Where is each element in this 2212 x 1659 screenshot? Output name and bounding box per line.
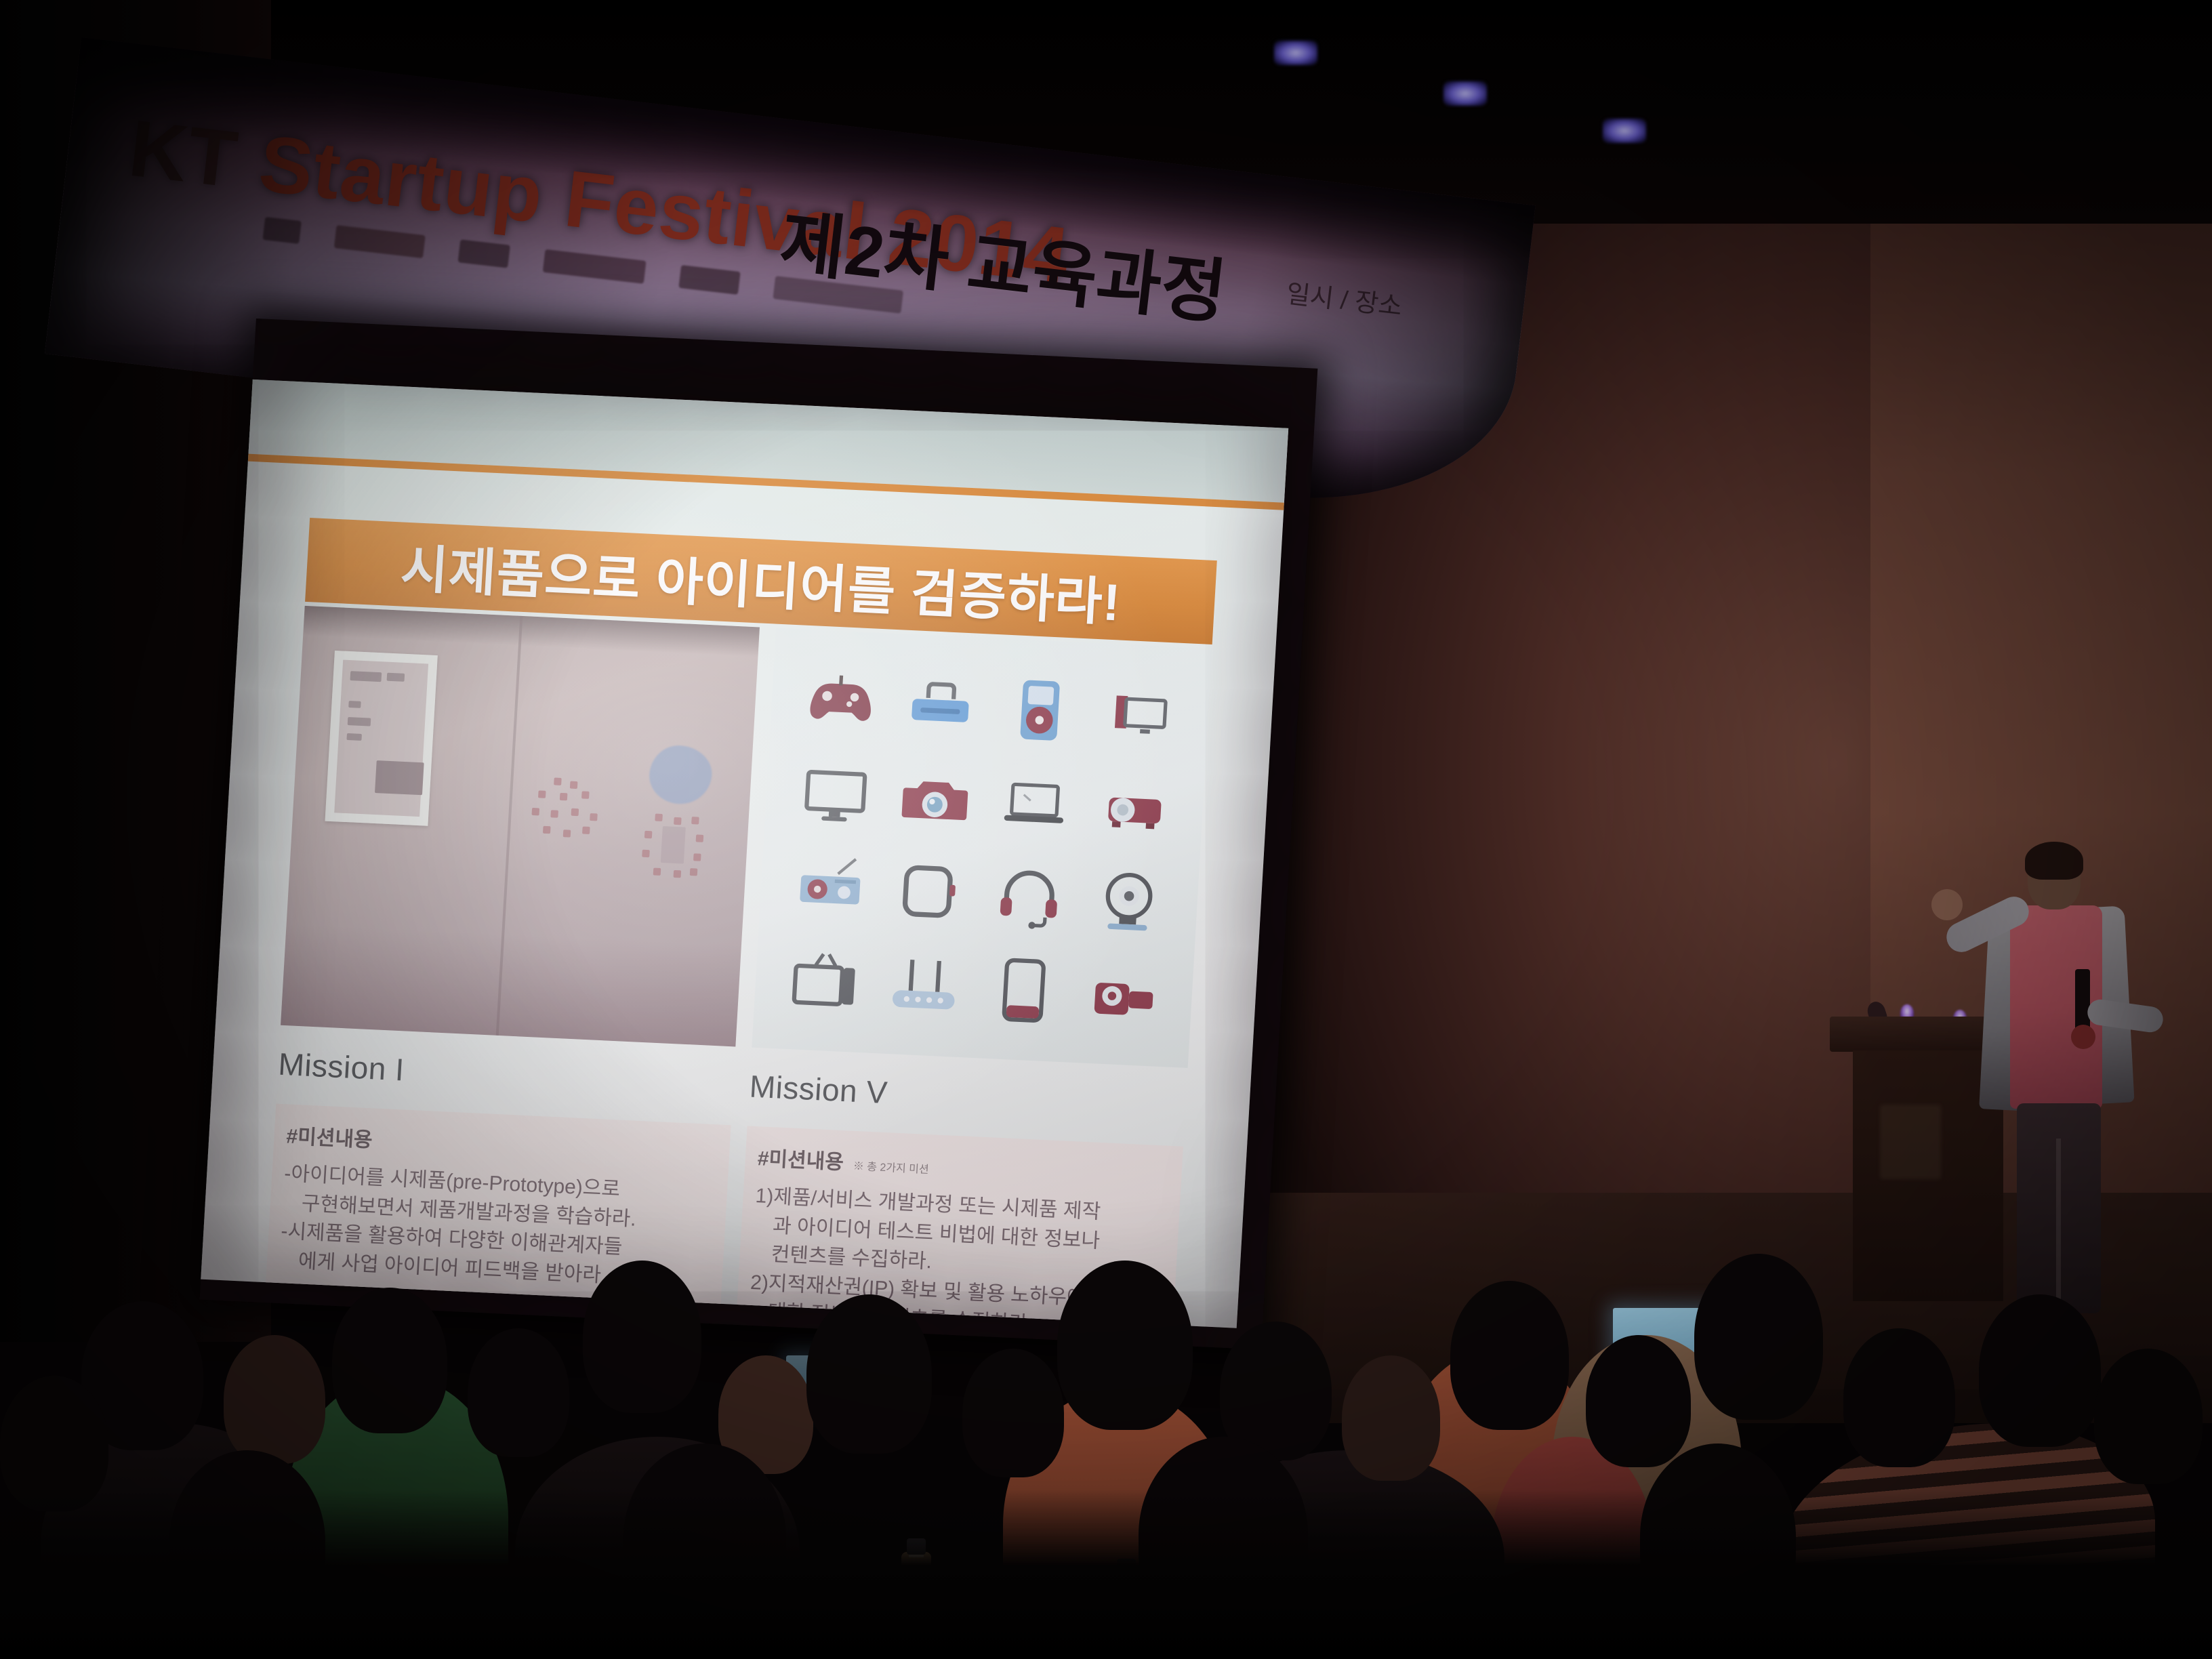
ceiling-light-icon [1443,81,1487,106]
retro-tv-icon [787,944,862,1018]
audience-head [468,1328,569,1457]
laptop-icon [997,766,1071,840]
audience-head [1694,1254,1823,1420]
desktop-monitor-icon [798,758,873,832]
presenter-hair [2025,842,2083,880]
audience-head [2094,1349,2203,1484]
audience-head [1586,1335,1691,1467]
audience-head [583,1261,701,1413]
ceiling-light-icon [1274,41,1317,65]
camcorder-icon [1086,958,1160,1032]
device-icon-grid [752,628,1212,1068]
note-card [661,826,686,864]
mission-heading-left-text: #미션내용 [286,1125,373,1151]
audience [0,1152,2212,1659]
audience-head [224,1335,325,1464]
sticky-note-cluster [529,777,615,855]
tv-monitor-icon [1102,678,1176,752]
webcam-icon [1091,865,1166,939]
audience-head [1057,1261,1193,1430]
radio-icon [793,851,867,924]
ceiling-light-icon [1603,119,1646,143]
boombox-icon [903,669,977,743]
audience-head [1342,1355,1440,1481]
photograph-scene: KT Startup Festival 2014 제2차 교육과정 일시 / 장… [0,0,2212,1659]
audience-head [962,1349,1064,1477]
headset-icon [991,860,1066,934]
presenter-hand [1931,889,1963,920]
microphone-head-icon [2071,1025,2095,1049]
camera-icon [897,762,972,836]
mp3-player-icon [1002,674,1077,747]
audience-head [1979,1294,2101,1447]
smartphone-icon [986,954,1061,1027]
poster-on-wall [325,651,437,826]
audience-head [1843,1328,1955,1467]
audience-head [1450,1281,1569,1430]
blue-paper-blob [648,744,714,805]
gamepad-icon [804,664,878,738]
workshop-photo [281,606,760,1047]
audience-head [332,1288,447,1433]
audience-head [806,1294,932,1454]
smartwatch-icon [892,855,966,929]
projector-icon [1097,771,1171,845]
router-icon [887,949,962,1023]
